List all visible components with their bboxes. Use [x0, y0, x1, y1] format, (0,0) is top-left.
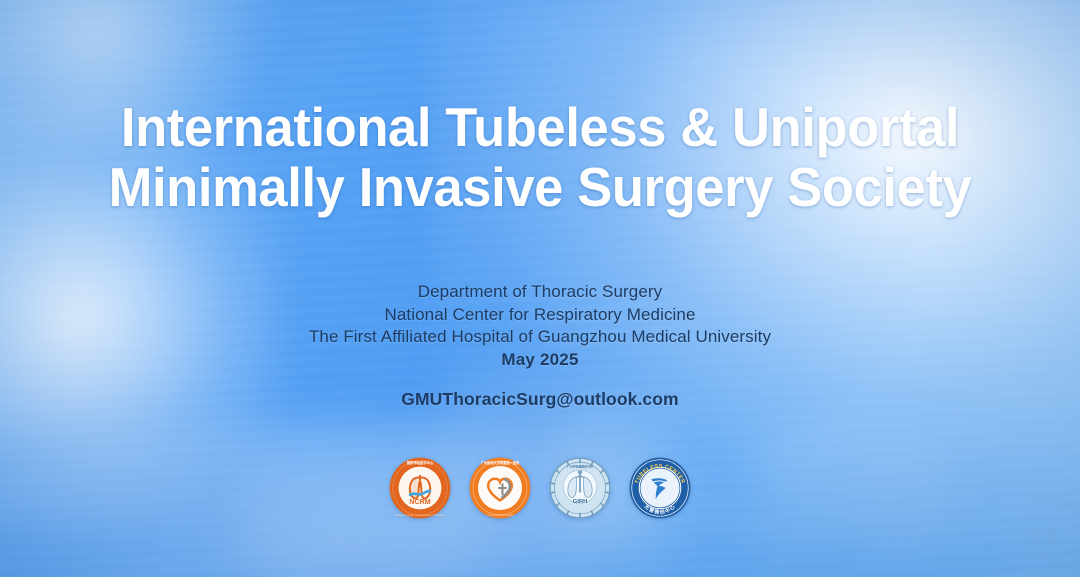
girh-logo-abbr: GIRH [573, 499, 588, 505]
ncrm-logo: NCRM 国家呼吸医学中心 National Center for Respir… [389, 457, 451, 519]
contact-block: GMUThoracicSurg@outlook.com [0, 389, 1080, 410]
presentation-slide: International Tubeless & Uniportal Minim… [0, 0, 1080, 577]
activation-watermark-line-1: 激活 [1026, 528, 1080, 548]
affiliation-line-department: Department of Thoracic Surgery [0, 281, 1080, 304]
slide-content: International Tubeless & Uniportal Minim… [0, 0, 1080, 577]
contact-email: GMUThoracicSurg@outlook.com [0, 389, 1080, 410]
tubeless-center-logo: TUBELESS CENTER 无管微创中心 [629, 457, 691, 519]
svg-text:广州医科大学附属第一医院: 广州医科大学附属第一医院 [481, 460, 520, 465]
presentation-date: May 2025 [0, 349, 1080, 372]
activation-watermark: 激活 转到 [1026, 528, 1080, 565]
ncrm-logo-abbr: NCRM [409, 498, 430, 506]
activation-watermark-line-2: 转到 [1026, 548, 1080, 565]
slide-title: International Tubeless & Uniportal Minim… [0, 97, 1080, 217]
svg-text:国家呼吸医学中心: 国家呼吸医学中心 [407, 460, 434, 465]
svg-text:The First Affiliated Hospital: The First Affiliated Hospital [487, 514, 514, 517]
title-line-1: International Tubeless & Uniportal [63, 97, 1018, 157]
title-line-2: Minimally Invasive Surgery Society [63, 157, 1018, 217]
logo-row: NCRM 国家呼吸医学中心 National Center for Respir… [0, 457, 1080, 519]
affiliation-line-center: National Center for Respiratory Medicine [0, 304, 1080, 327]
girh-logo: GIRH 广州呼吸健康研究院 [549, 457, 611, 519]
first-affiliated-hospital-logo: 广州医科大学附属第一医院 The First Affiliated Hospit… [469, 457, 531, 519]
affiliation-line-hospital: The First Affiliated Hospital of Guangzh… [0, 326, 1080, 349]
affiliation-block: Department of Thoracic Surgery National … [0, 281, 1080, 371]
svg-text:National Center for Respirator: National Center for Respiratory Medicine [395, 514, 445, 517]
svg-text:广州呼吸健康研究院: 广州呼吸健康研究院 [567, 465, 593, 469]
